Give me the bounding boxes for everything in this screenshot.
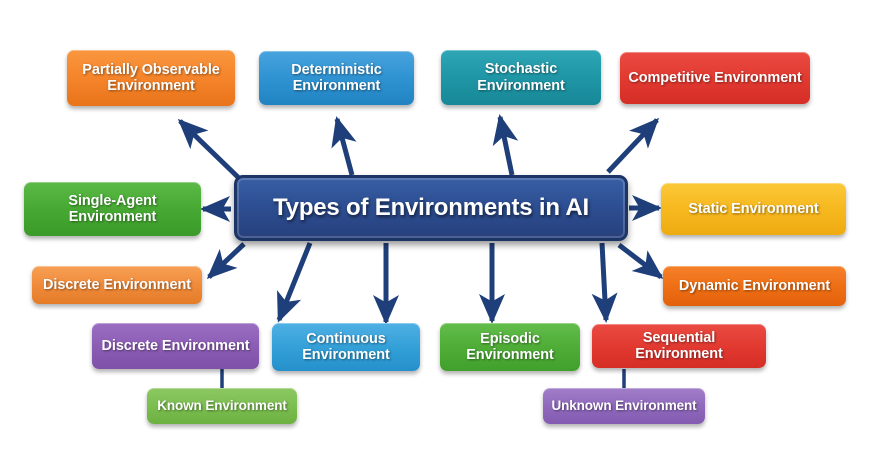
node-sequential-environment[interactable]: Sequential Environment (592, 324, 766, 368)
node-label-line1: Competitive Environment (628, 70, 801, 86)
center-node-label: Types of Environments in AI (273, 194, 589, 222)
arrow-to-deterministic (337, 119, 352, 175)
arrow-to-discrete-left (209, 244, 244, 277)
arrow-to-competitive (608, 120, 657, 172)
node-label-line1: Unknown Environment (551, 398, 696, 413)
center-node[interactable]: Types of Environments in AI (234, 175, 628, 241)
node-label-line1: Partially Observable (82, 62, 219, 78)
node-stochastic-environment[interactable]: Stochastic Environment (441, 50, 601, 105)
node-label-line1: Sequential Environment (600, 330, 758, 362)
node-label-line2: Environment (107, 78, 195, 94)
node-label-line1: Dynamic Environment (679, 278, 830, 294)
node-label-line1: Deterministic (291, 62, 382, 78)
arrow-to-sequential (602, 243, 606, 320)
arrow-to-partially-observable (180, 121, 243, 182)
node-label-line1: Stochastic (485, 61, 557, 77)
node-deterministic-environment[interactable]: Deterministic Environment (259, 51, 414, 105)
node-known-environment[interactable]: Known Environment (147, 388, 297, 424)
node-continuous-environment[interactable]: Continuous Environment (272, 323, 420, 371)
node-episodic-environment[interactable]: Episodic Environment (440, 323, 580, 371)
node-label-line1: Discrete Environment (102, 338, 250, 354)
node-discrete-environment-left[interactable]: Discrete Environment (32, 266, 202, 304)
node-label-line1: Continuous (306, 331, 386, 347)
node-discrete-environment-bottom[interactable]: Discrete Environment (92, 323, 259, 369)
node-dynamic-environment[interactable]: Dynamic Environment (663, 266, 846, 306)
node-single-agent-environment[interactable]: Single-Agent Environment (24, 182, 201, 236)
node-partially-observable-environment[interactable]: Partially Observable Environment (67, 50, 235, 106)
diagram-canvas: Types of Environments in AI Partially Ob… (0, 0, 872, 473)
node-label-line1: Episodic (480, 331, 540, 347)
node-static-environment[interactable]: Static Environment (661, 183, 846, 235)
arrow-to-stochastic (500, 117, 512, 175)
node-label-line2: Environment (466, 347, 554, 363)
node-label-line2: Environment (69, 209, 157, 225)
arrow-to-dynamic (619, 245, 661, 277)
node-label-line1: Static Environment (688, 201, 818, 217)
node-label-line2: Environment (302, 347, 390, 363)
node-label-line1: Discrete Environment (43, 277, 191, 293)
node-label-line2: Environment (477, 78, 565, 94)
node-label-line1: Single-Agent (68, 193, 156, 209)
node-label-line2: Environment (293, 78, 381, 94)
arrow-to-discrete-bottom (279, 243, 310, 320)
node-competitive-environment[interactable]: Competitive Environment (620, 52, 810, 104)
node-unknown-environment[interactable]: Unknown Environment (543, 388, 705, 424)
node-label-line1: Known Environment (157, 398, 287, 413)
